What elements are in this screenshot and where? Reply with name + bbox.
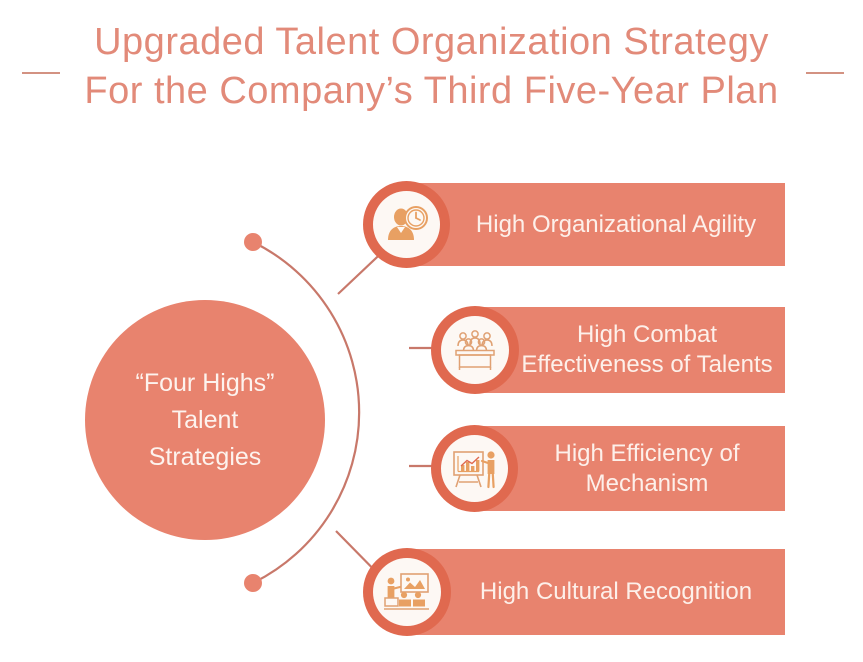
presenter-chart-icon — [450, 446, 500, 492]
title-dash-left-decoration — [22, 72, 60, 74]
arc-end-dot-bottom — [244, 574, 262, 592]
strategy-badge-3[interactable] — [431, 425, 518, 512]
badge-disc-1 — [373, 191, 440, 258]
badge-disc-3 — [441, 435, 508, 502]
badge-disc-4 — [373, 558, 441, 626]
hub-line-1: “Four Highs” — [136, 365, 275, 402]
classroom-training-icon — [382, 570, 432, 614]
infographic-canvas: Upgraded Talent Organization Strategy Fo… — [0, 0, 863, 662]
title-line-2: For the Company’s Third Five-Year Plan — [0, 67, 863, 116]
page-title: Upgraded Talent Organization Strategy Fo… — [0, 18, 863, 116]
strategy-badge-2[interactable] — [431, 306, 519, 394]
title-line-1: Upgraded Talent Organization Strategy — [0, 18, 863, 67]
team-podium-icon — [451, 327, 499, 373]
strategy-badge-1[interactable] — [363, 181, 450, 268]
arc-end-dot-top — [244, 233, 262, 251]
strategy-badge-4[interactable] — [363, 548, 451, 636]
person-clock-icon — [384, 202, 430, 248]
badge-disc-2 — [441, 316, 509, 384]
title-dash-right-decoration — [806, 72, 844, 74]
hub-line-3: Strategies — [149, 439, 262, 476]
hub-circle: “Four Highs” Talent Strategies — [85, 300, 325, 540]
hub-line-2: Talent — [172, 402, 239, 439]
